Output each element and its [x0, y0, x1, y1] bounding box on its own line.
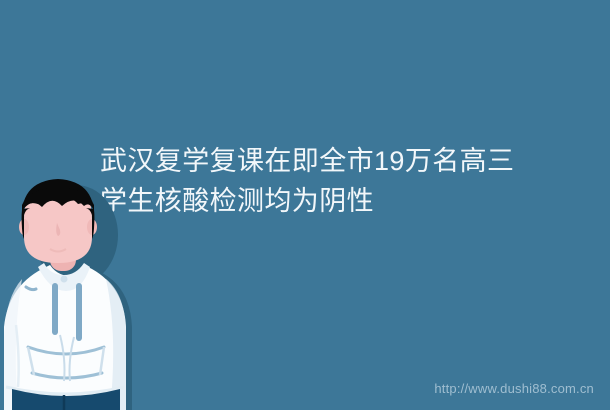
drawstring-left	[52, 283, 58, 335]
article-banner: 武汉复学复课在即全市19万名高三学生核酸检测均为阴性	[0, 0, 610, 410]
student-illustration	[0, 175, 138, 410]
hoodie	[4, 263, 126, 410]
source-url-watermark: http://www.dushi88.com.cn	[434, 381, 594, 396]
headline-text: 武汉复学复课在即全市19万名高三学生核酸检测均为阴性	[100, 141, 540, 221]
drawstring-right	[76, 283, 82, 341]
